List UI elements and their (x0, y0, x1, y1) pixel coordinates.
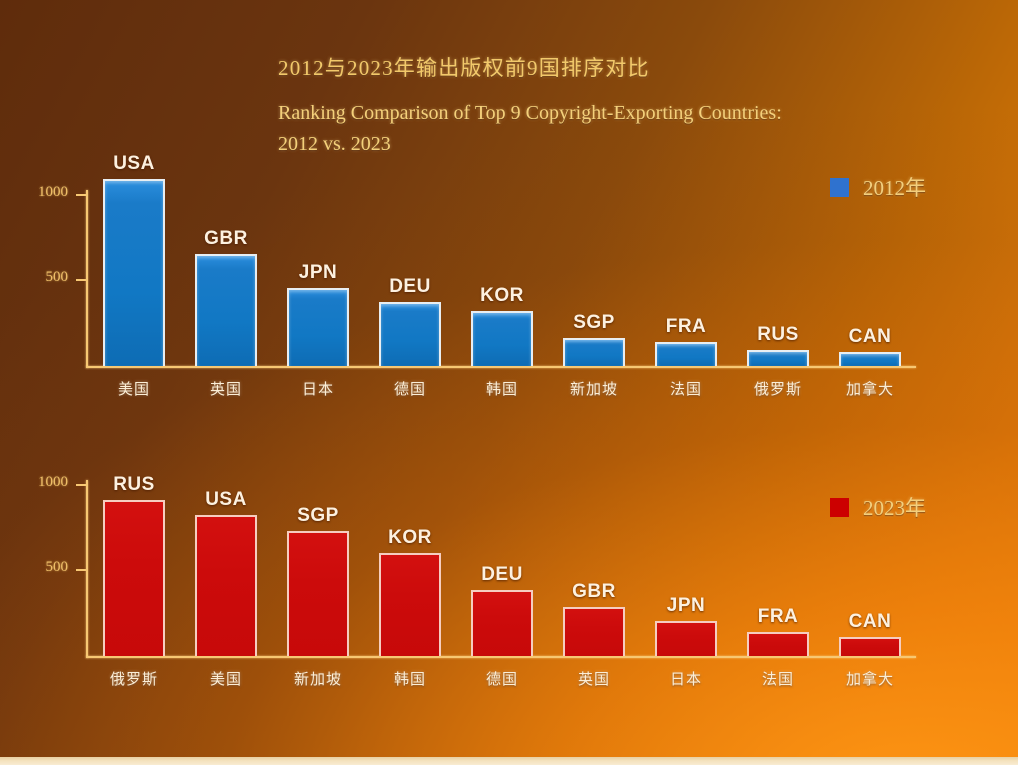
bottom-accent-strip (0, 757, 1018, 765)
bar-slot: KOR韩国 (471, 170, 533, 366)
category-label: 英国 (578, 668, 610, 689)
y-tick-label: 1000 (38, 474, 68, 491)
category-label: 俄罗斯 (754, 378, 802, 399)
category-label: 美国 (118, 378, 150, 399)
legend-label-2012: 2012年 (863, 172, 926, 202)
category-label: 新加坡 (570, 378, 618, 399)
bar-RUS[interactable]: RUS (103, 500, 165, 656)
legend-swatch-2012 (830, 178, 849, 197)
bar-value-label: CAN (849, 611, 892, 633)
bar-slot: SGP新加坡 (563, 170, 625, 366)
plot-area-2012: USA美国GBR英国JPN日本DEU德国KOR韩国SGP新加坡FRA法国RUS俄… (86, 172, 916, 368)
y-tick-label: 500 (46, 269, 69, 286)
category-label: 日本 (302, 378, 334, 399)
bar-USA[interactable]: USA (195, 515, 257, 656)
bar-value-label: SGP (573, 312, 615, 334)
bar-slot: RUS俄罗斯 (103, 460, 165, 656)
bar-CAN[interactable]: CAN (839, 352, 901, 366)
bar-FRA[interactable]: FRA (747, 632, 809, 656)
bar-slot: RUS俄罗斯 (747, 170, 809, 366)
bar-RUS[interactable]: RUS (747, 350, 809, 366)
chart-2023: RUS俄罗斯USA美国SGP新加坡KOR韩国DEU德国GBR英国JPN日本FRA… (0, 440, 1018, 700)
bar-value-label: JPN (667, 595, 705, 617)
category-label: 美国 (210, 668, 242, 689)
bar-slot: JPN日本 (287, 170, 349, 366)
category-label: 英国 (210, 378, 242, 399)
bar-FRA[interactable]: FRA (655, 342, 717, 366)
y-tick-500: 500 (76, 279, 87, 281)
bar-USA[interactable]: USA (103, 179, 165, 366)
bar-DEU[interactable]: DEU (471, 590, 533, 656)
bar-value-label: DEU (481, 564, 523, 586)
title-english-line1: Ranking Comparison of Top 9 Copyright-Ex… (278, 98, 968, 129)
category-label: 韩国 (394, 668, 426, 689)
x-axis-2012 (86, 366, 916, 368)
y-tick-1000: 1000 (76, 484, 87, 486)
bar-slot: FRA法国 (747, 460, 809, 656)
bar-slot: DEU德国 (379, 170, 441, 366)
bar-value-label: SGP (297, 505, 339, 527)
bar-JPN[interactable]: JPN (655, 621, 717, 656)
bar-GBR[interactable]: GBR (563, 607, 625, 656)
bar-group-2023: RUS俄罗斯USA美国SGP新加坡KOR韩国DEU德国GBR英国JPN日本FRA… (88, 460, 916, 656)
y-tick-label: 1000 (38, 184, 68, 201)
bar-slot: FRA法国 (655, 170, 717, 366)
bar-value-label: USA (113, 153, 155, 175)
category-label: 加拿大 (846, 668, 894, 689)
bar-value-label: JPN (299, 262, 337, 284)
bar-slot: DEU德国 (471, 460, 533, 656)
bar-value-label: GBR (572, 581, 616, 603)
title-block: 2012与2023年输出版权前9国排序对比 Ranking Comparison… (278, 52, 968, 160)
bar-value-label: FRA (666, 316, 707, 338)
bar-JPN[interactable]: JPN (287, 288, 349, 366)
category-label: 韩国 (486, 378, 518, 399)
category-label: 德国 (486, 668, 518, 689)
bar-value-label: RUS (113, 474, 155, 496)
bar-DEU[interactable]: DEU (379, 302, 441, 366)
y-tick-500: 500 (76, 569, 87, 571)
title-chinese: 2012与2023年输出版权前9国排序对比 (278, 52, 968, 82)
bar-KOR[interactable]: KOR (471, 311, 533, 366)
bar-slot: CAN加拿大 (839, 460, 901, 656)
category-label: 新加坡 (294, 668, 342, 689)
legend-label-2023: 2023年 (863, 492, 926, 522)
legend-2012: 2012年 (830, 172, 926, 202)
bar-value-label: GBR (204, 228, 248, 250)
slide-canvas: 2012与2023年输出版权前9国排序对比 Ranking Comparison… (0, 0, 1018, 765)
bar-slot: SGP新加坡 (287, 460, 349, 656)
bar-slot: USA美国 (103, 170, 165, 366)
bar-SGP[interactable]: SGP (563, 338, 625, 366)
category-label: 俄罗斯 (110, 668, 158, 689)
bar-value-label: RUS (757, 324, 799, 346)
plot-area-2023: RUS俄罗斯USA美国SGP新加坡KOR韩国DEU德国GBR英国JPN日本FRA… (86, 462, 916, 658)
bar-slot: USA美国 (195, 460, 257, 656)
legend-swatch-2023 (830, 498, 849, 517)
bar-group-2012: USA美国GBR英国JPN日本DEU德国KOR韩国SGP新加坡FRA法国RUS俄… (88, 170, 916, 366)
category-label: 法国 (762, 668, 794, 689)
bar-GBR[interactable]: GBR (195, 254, 257, 366)
bar-SGP[interactable]: SGP (287, 531, 349, 656)
category-label: 日本 (670, 668, 702, 689)
bar-slot: GBR英国 (195, 170, 257, 366)
bar-value-label: DEU (389, 276, 431, 298)
category-label: 加拿大 (846, 378, 894, 399)
bar-KOR[interactable]: KOR (379, 553, 441, 656)
bar-slot: JPN日本 (655, 460, 717, 656)
category-label: 德国 (394, 378, 426, 399)
bar-value-label: KOR (388, 527, 432, 549)
bar-slot: KOR韩国 (379, 460, 441, 656)
bar-value-label: USA (205, 489, 247, 511)
bar-value-label: FRA (758, 606, 799, 628)
bar-value-label: KOR (480, 285, 524, 307)
category-label: 法国 (670, 378, 702, 399)
bar-value-label: CAN (849, 326, 892, 348)
bar-CAN[interactable]: CAN (839, 637, 901, 656)
y-tick-label: 500 (46, 559, 69, 576)
x-axis-2023 (86, 656, 916, 658)
bar-slot: GBR英国 (563, 460, 625, 656)
legend-2023: 2023年 (830, 492, 926, 522)
y-tick-1000: 1000 (76, 194, 87, 196)
